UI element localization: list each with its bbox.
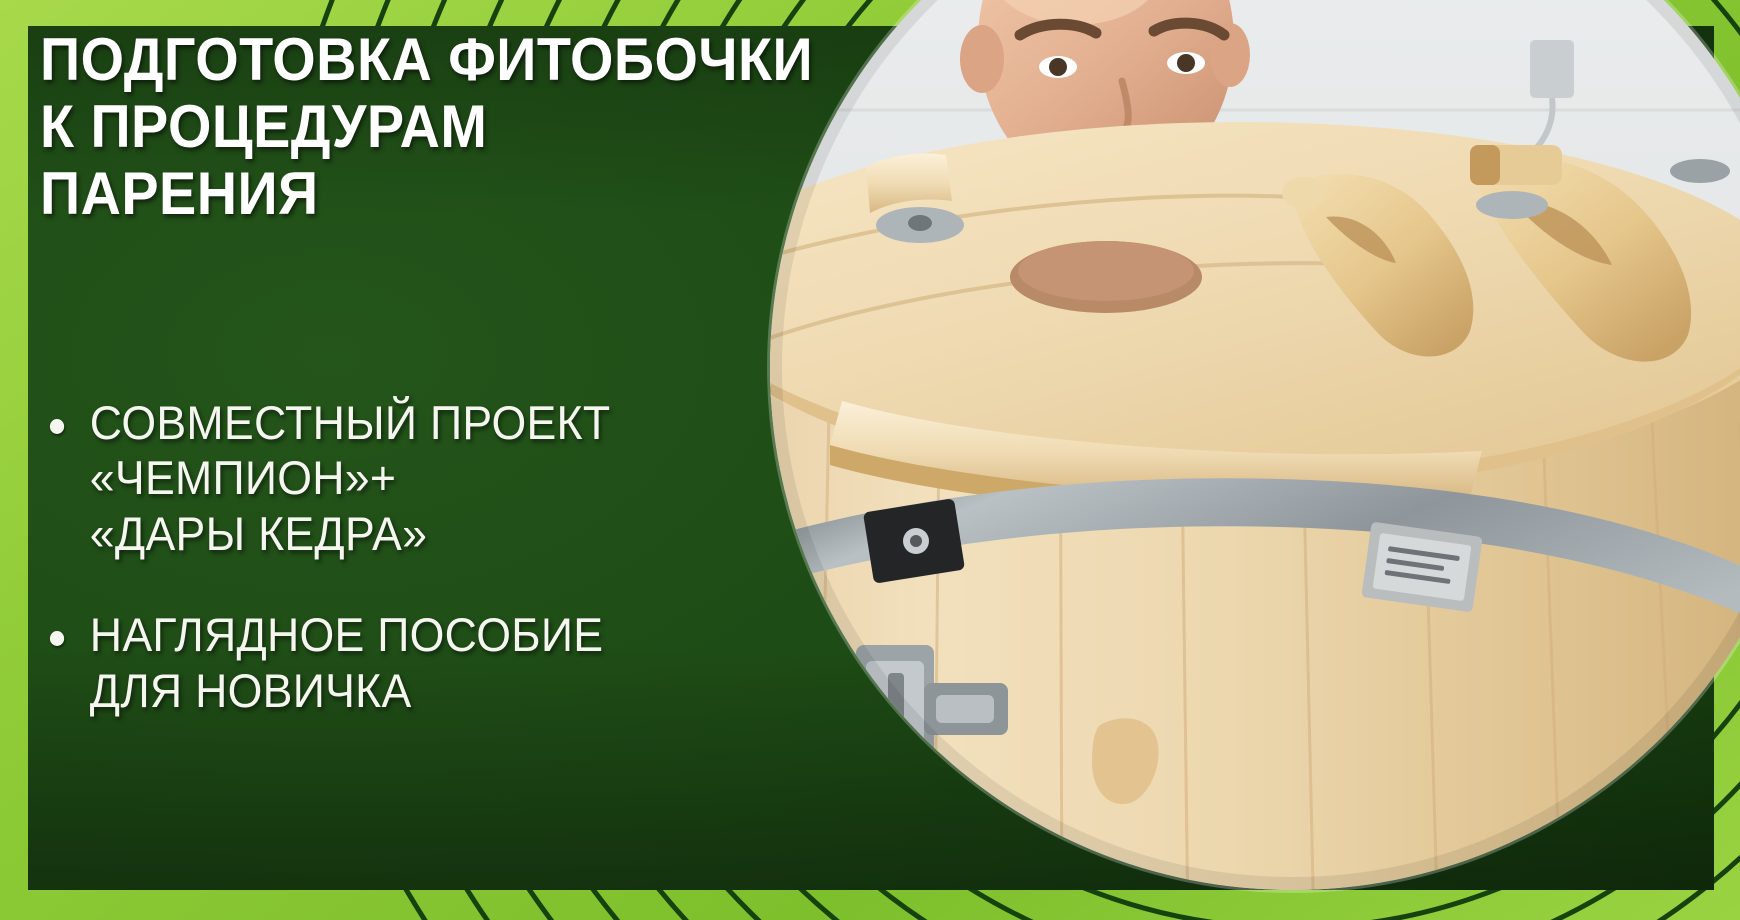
- list-item: НАГЛЯДНОЕ ПОСОБИЕ ДЛЯ НОВИЧКА: [48, 607, 884, 718]
- barrel-nameplate: [1361, 522, 1482, 613]
- thumbnail-canvas: ПОДГОТОВКА ФИТОБОЧКИ К ПРОЦЕДУРАМ ПАРЕНИ…: [0, 0, 1740, 920]
- list-item: СОВМЕСТНЫЙ ПРОЕКТ «ЧЕМПИОН»+ «ДАРЫ КЕДРА…: [48, 395, 884, 561]
- bullet-list: СОВМЕСТНЫЙ ПРОЕКТ «ЧЕМПИОН»+ «ДАРЫ КЕДРА…: [48, 395, 928, 718]
- headline-block: ПОДГОТОВКА ФИТОБОЧКИ К ПРОЦЕДУРАМ ПАРЕНИ…: [40, 26, 900, 228]
- page-title: ПОДГОТОВКА ФИТОБОЧКИ К ПРОЦЕДУРАМ ПАРЕНИ…: [40, 26, 840, 228]
